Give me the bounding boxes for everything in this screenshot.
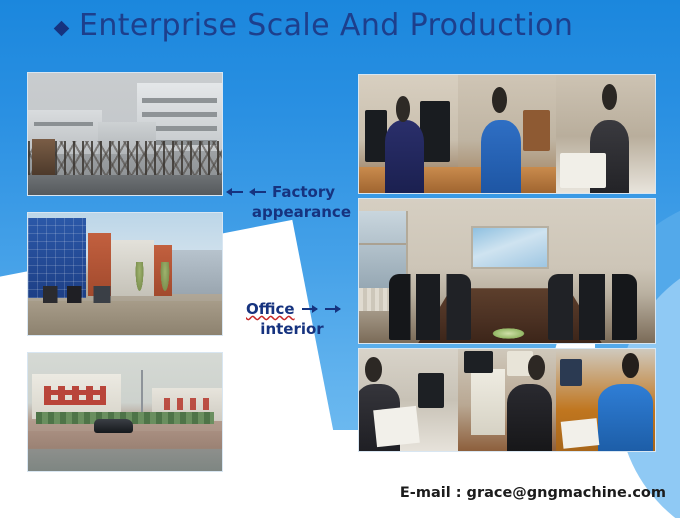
photo-office-staff-computers xyxy=(358,74,656,194)
photo-conference-room xyxy=(358,198,656,344)
left-arrow-icon xyxy=(249,186,267,198)
photo-factory-exterior-gate xyxy=(27,72,223,196)
photo-warehouse-with-signage xyxy=(27,352,223,472)
annotation-factory-line1: Factory xyxy=(272,182,335,202)
annotation-office-line2: interior xyxy=(246,319,364,339)
annotation-factory-appearance: Factory appearance xyxy=(226,182,351,223)
page-title: Enterprise Scale And Production xyxy=(79,8,573,43)
contact-email: E-mail : grace@gngmachine.com xyxy=(400,485,666,501)
right-arrow-icon xyxy=(300,303,318,315)
slide-title-row: Enterprise Scale And Production xyxy=(56,8,573,43)
photo-office-workers-desks xyxy=(358,348,656,452)
left-arrow-icon xyxy=(226,186,244,198)
photo-industrial-park-buildings xyxy=(27,212,223,336)
annotation-office-line1-row: Office xyxy=(246,299,364,319)
annotation-office-line1: Office xyxy=(246,299,295,319)
annotation-office-interior: Office interior xyxy=(246,299,364,340)
annotation-factory-line2: appearance xyxy=(226,202,351,222)
diamond-bullet-icon xyxy=(54,21,70,37)
annotation-factory-line1-row: Factory xyxy=(226,182,351,202)
right-arrow-icon xyxy=(323,303,341,315)
slide-canvas: Enterprise Scale And Production xyxy=(0,0,680,518)
